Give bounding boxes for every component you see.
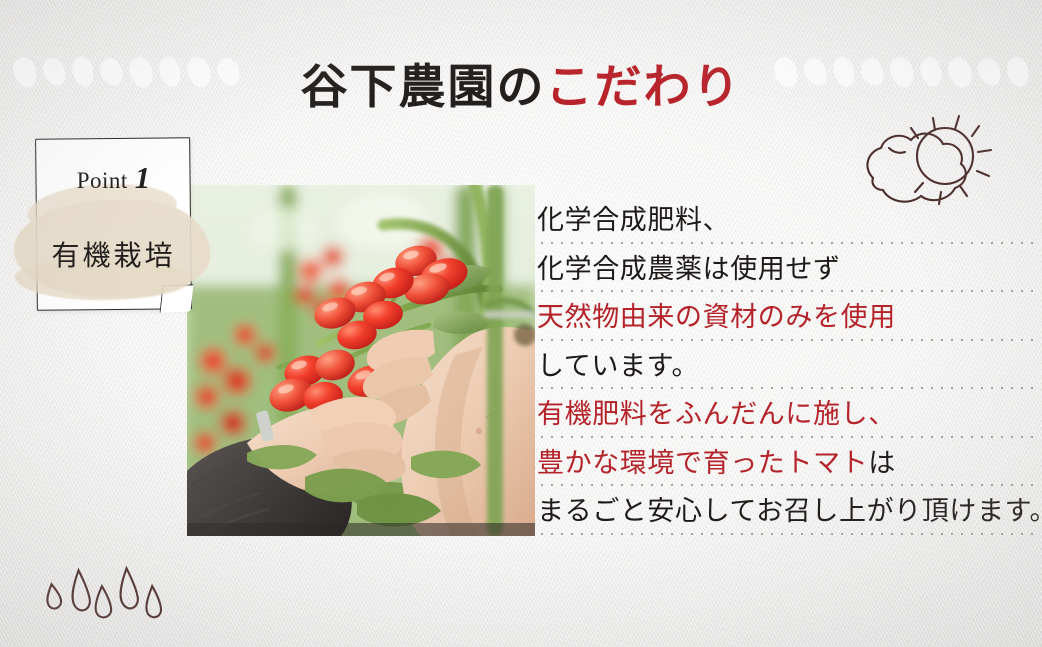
point-card-label: Point1 bbox=[36, 160, 191, 196]
copy-text-run: まるごと安心してお召し上がり頂けます。 bbox=[537, 496, 1042, 526]
copy-line-3: 天然物由来の資材のみを使用 bbox=[537, 295, 1019, 344]
oval-dash-icon bbox=[858, 55, 888, 89]
copy-line-7: まるごと安心してお召し上がり頂けます。 bbox=[537, 489, 1019, 538]
copy-text-run: 化学合成肥料、 bbox=[537, 205, 730, 235]
page-title-dark-part: 谷下農園の bbox=[301, 62, 546, 114]
sun-behind-cloud-doodle bbox=[855, 112, 1005, 221]
point-card-topic: 有機栽培 bbox=[36, 234, 191, 274]
copy-line-6: 豊かな環境で育ったトマトは bbox=[537, 441, 1019, 490]
copy-text-run: 天然物由来の資材のみを使用 bbox=[537, 302, 896, 332]
point-card: Point1 有機栽培 bbox=[36, 138, 191, 310]
copy-text-run: は bbox=[868, 448, 896, 478]
page-canvas: 谷下農園のこだわり bbox=[0, 0, 1042, 647]
oval-dash-icon bbox=[831, 55, 857, 89]
oval-dash-icon bbox=[801, 55, 831, 89]
oval-dash-icon bbox=[945, 54, 975, 90]
oval-dash-icon bbox=[975, 55, 1005, 89]
oval-dash-icon bbox=[1005, 55, 1031, 89]
body-copy: 化学合成肥料、 化学合成農薬は使用せず 天然物由来の資材のみを使用 しています。… bbox=[537, 198, 1019, 538]
point-card-label-number: 1 bbox=[135, 160, 151, 195]
oval-dash-icon bbox=[918, 55, 944, 89]
copy-line-4: しています。 bbox=[537, 344, 1019, 393]
page-header: 谷下農園のこだわり bbox=[0, 0, 1042, 120]
point-card-label-prefix: Point bbox=[77, 168, 128, 193]
header-ornament-right bbox=[775, 52, 1028, 92]
copy-text-run: 豊かな環境で育ったトマト bbox=[537, 448, 868, 478]
oval-dash-icon bbox=[771, 54, 801, 90]
water-drops-doodle bbox=[34, 556, 162, 627]
copy-line-2: 化学合成農薬は使用せず bbox=[537, 247, 1019, 296]
page-title-red-part: こだわり bbox=[546, 62, 742, 114]
copy-text-run: しています。 bbox=[537, 351, 699, 381]
oval-dash-icon bbox=[887, 54, 917, 90]
copy-text-run: 有機肥料をふんだんに施し、 bbox=[537, 399, 896, 429]
tomato-harvest-photo bbox=[187, 185, 535, 536]
copy-line-5: 有機肥料をふんだんに施し、 bbox=[537, 392, 1019, 441]
copy-text-run: 化学合成農薬は使用せず bbox=[537, 254, 841, 284]
